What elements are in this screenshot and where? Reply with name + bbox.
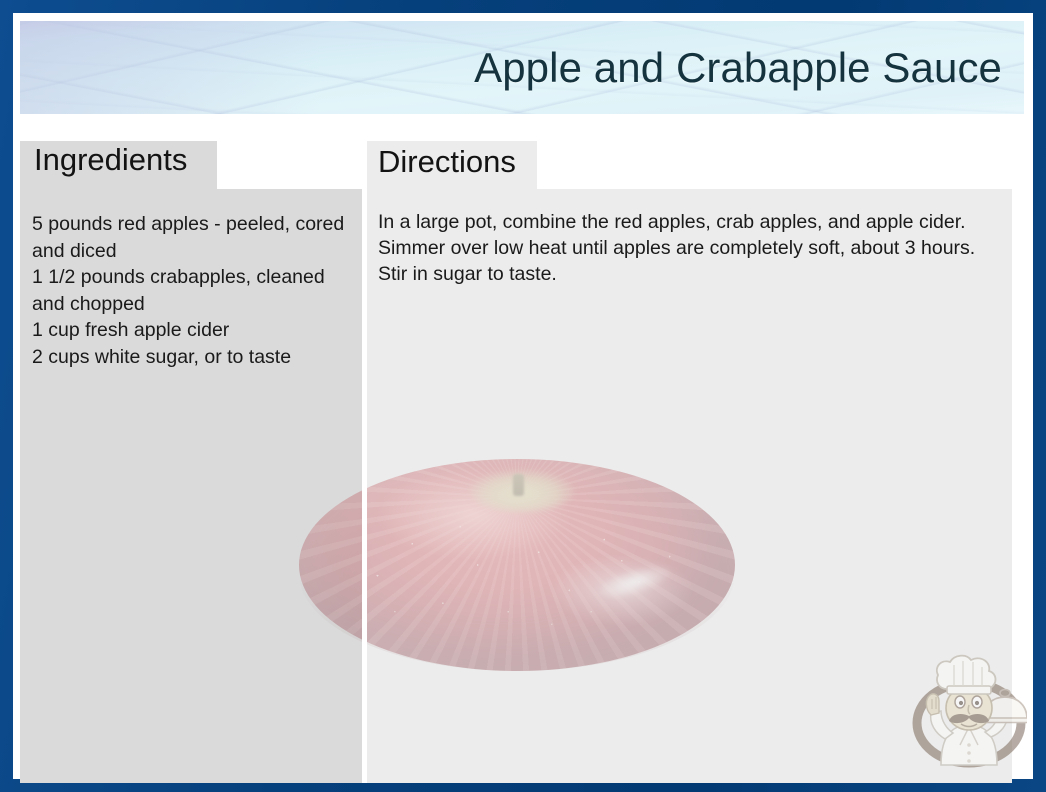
ingredients-list: 5 pounds red apples - peeled, cored and …	[20, 189, 362, 370]
ingredients-tab-cutout	[217, 141, 362, 189]
ingredients-heading: Ingredients	[34, 142, 187, 178]
ingredients-heading-tab: Ingredients	[20, 141, 362, 189]
slide-inner-canvas: Apple and Crabapple Sauce Ingredients 5 …	[13, 13, 1033, 779]
title-banner: Apple and Crabapple Sauce	[20, 21, 1024, 114]
directions-heading-tab: Directions	[367, 141, 1012, 189]
page-title: Apple and Crabapple Sauce	[474, 44, 1002, 92]
directions-heading: Directions	[378, 144, 516, 180]
directions-panel: Directions In a large pot, combine the r…	[367, 141, 1012, 783]
directions-text: In a large pot, combine the red apples, …	[367, 189, 1012, 287]
directions-tab-cutout	[537, 141, 1012, 189]
list-item: 1 1/2 pounds crabapples, cleaned and cho…	[32, 264, 356, 317]
ingredients-panel: Ingredients 5 pounds red apples - peeled…	[20, 141, 362, 783]
recipe-slide: Apple and Crabapple Sauce Ingredients 5 …	[0, 0, 1046, 792]
banner-left-fade	[20, 21, 320, 114]
list-item: 1 cup fresh apple cider	[32, 317, 356, 344]
list-item: 2 cups white sugar, or to taste	[32, 344, 356, 371]
list-item: 5 pounds red apples - peeled, cored and …	[32, 211, 356, 264]
